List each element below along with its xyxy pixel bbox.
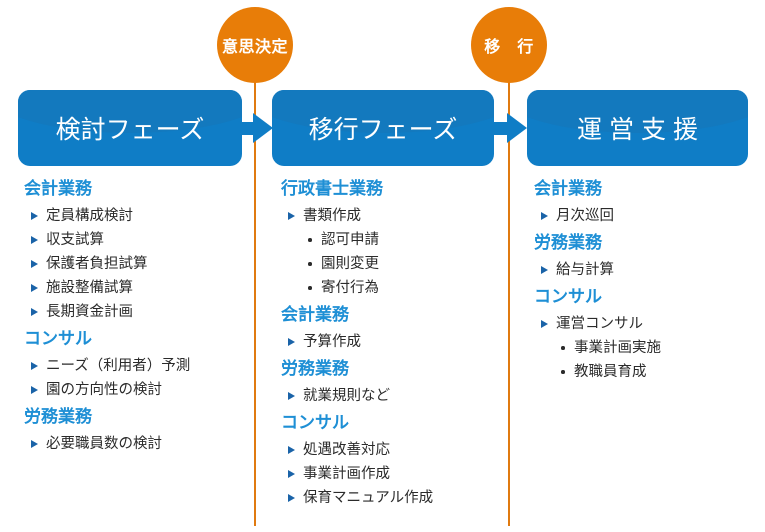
service-item: 長期資金計画 [24,300,256,324]
phase-box-3: 運営支援 [527,90,748,166]
flow-arrow-icon-2 [483,113,527,143]
dot-bullet-icon [308,262,312,266]
phase-title-2: 移行フェーズ [272,90,494,166]
service-item: 処遇改善対応 [281,438,513,462]
phase-box-2: 移行フェーズ [272,90,494,166]
triangle-bullet-icon [541,320,548,328]
service-item: 施設整備試算 [24,276,256,300]
service-item: 就業規則など [281,384,513,408]
service-item: 月次巡回 [534,204,765,228]
triangle-bullet-icon [31,440,38,448]
service-item: 給与計算 [534,258,765,282]
service-subitem-label: 認可申請 [321,232,379,248]
triangle-bullet-icon [31,308,38,316]
service-item-label: 運営コンサル [556,316,643,332]
service-item-label: 月次巡回 [556,208,614,224]
arrow-head [253,113,273,143]
triangle-bullet-icon [31,212,38,220]
milestone-label: 移 行 [484,33,534,57]
dot-bullet-icon [308,238,312,242]
service-item: 保育マニュアル作成 [281,486,513,510]
milestone-transfer: 移 行 [471,7,547,83]
service-group-title: コンサル [24,326,256,352]
service-item-label: 必要職員数の検討 [46,436,162,452]
service-item-label: 就業規則など [303,388,390,404]
triangle-bullet-icon [288,392,295,400]
service-group-title: コンサル [534,284,765,310]
service-item-list: 運営コンサル事業計画実施教職員育成 [534,312,765,384]
service-item: 事業計画作成 [281,462,513,486]
service-subitem-list: 事業計画実施教職員育成 [534,336,765,384]
service-item-list: 就業規則など [281,384,513,408]
service-group: 会計業務定員構成検討収支試算保護者負担試算施設整備試算長期資金計画 [24,176,256,324]
service-item: 必要職員数の検討 [24,432,256,456]
service-subitem-label: 事業計画実施 [574,340,661,356]
service-item-label: 予算作成 [303,334,361,350]
service-item: 収支試算 [24,228,256,252]
triangle-bullet-icon [288,212,295,220]
flow-arrow-icon-1 [229,113,273,143]
service-item-label: 長期資金計画 [46,304,133,320]
service-group-title: 労務業務 [24,404,256,430]
triangle-bullet-icon [288,470,295,478]
service-item: ニーズ（利用者）予測 [24,354,256,378]
service-group-title: 労務業務 [534,230,765,256]
phase-column-1: 会計業務定員構成検討収支試算保護者負担試算施設整備試算長期資金計画コンサルニーズ… [24,176,256,458]
process-flow-diagram: 意思決定 移 行 検討フェーズ 移行フェーズ 運営支援 会計業務定員構成検討収支… [0,0,765,532]
dot-bullet-icon [561,370,565,374]
service-group-title: 会計業務 [24,176,256,202]
service-item-list: 給与計算 [534,258,765,282]
triangle-bullet-icon [288,338,295,346]
service-item-list: 処遇改善対応事業計画作成保育マニュアル作成 [281,438,513,510]
service-group: コンサル処遇改善対応事業計画作成保育マニュアル作成 [281,410,513,510]
service-item: 保護者負担試算 [24,252,256,276]
service-group: 労務業務必要職員数の検討 [24,404,256,456]
service-item: 定員構成検討 [24,204,256,228]
service-item-label: 書類作成 [303,208,361,224]
service-group-title: 会計業務 [534,176,765,202]
triangle-bullet-icon [31,284,38,292]
triangle-bullet-icon [541,266,548,274]
service-item-label: 園の方向性の検討 [46,382,162,398]
triangle-bullet-icon [288,494,295,502]
service-group-title: コンサル [281,410,513,436]
service-item-label: 保護者負担試算 [46,256,148,272]
service-subitem: 事業計画実施 [534,336,765,360]
service-group: 会計業務予算作成 [281,302,513,354]
service-item: 書類作成 [281,204,513,228]
service-subitem-label: 園則変更 [321,256,379,272]
triangle-bullet-icon [541,212,548,220]
service-item: 運営コンサル [534,312,765,336]
service-item: 予算作成 [281,330,513,354]
service-group: コンサル運営コンサル事業計画実施教職員育成 [534,284,765,384]
service-subitem-label: 教職員育成 [574,364,647,380]
service-group-title: 会計業務 [281,302,513,328]
service-group: 行政書士業務書類作成認可申請園則変更寄付行為 [281,176,513,300]
service-item-list: 月次巡回 [534,204,765,228]
phase-column-2: 行政書士業務書類作成認可申請園則変更寄付行為会計業務予算作成労務業務就業規則など… [281,176,513,512]
service-subitem-label: 寄付行為 [321,280,379,296]
service-item-list: 定員構成検討収支試算保護者負担試算施設整備試算長期資金計画 [24,204,256,324]
service-item-label: 給与計算 [556,262,614,278]
triangle-bullet-icon [31,386,38,394]
milestone-label: 意思決定 [222,33,288,57]
service-group-title: 行政書士業務 [281,176,513,202]
service-group: 会計業務月次巡回 [534,176,765,228]
service-item-label: 収支試算 [46,232,104,248]
arrow-head [507,113,527,143]
service-group: 労務業務就業規則など [281,356,513,408]
service-item-list: 書類作成認可申請園則変更寄付行為 [281,204,513,300]
phase-column-3: 会計業務月次巡回労務業務給与計算コンサル運営コンサル事業計画実施教職員育成 [534,176,765,386]
service-item-label: 事業計画作成 [303,466,390,482]
service-group: 労務業務給与計算 [534,230,765,282]
phase-box-1: 検討フェーズ [18,90,242,166]
service-item-label: 施設整備試算 [46,280,133,296]
service-subitem: 寄付行為 [281,276,513,300]
service-group: コンサルニーズ（利用者）予測園の方向性の検討 [24,326,256,402]
service-item-list: 予算作成 [281,330,513,354]
service-item-list: 必要職員数の検討 [24,432,256,456]
triangle-bullet-icon [288,446,295,454]
phase-title-3: 運営支援 [527,90,748,166]
service-item-label: 処遇改善対応 [303,442,390,458]
triangle-bullet-icon [31,362,38,370]
service-item-label: ニーズ（利用者）予測 [46,358,190,374]
dot-bullet-icon [561,346,565,350]
service-subitem: 認可申請 [281,228,513,252]
service-item-list: ニーズ（利用者）予測園の方向性の検討 [24,354,256,402]
service-subitem-list: 認可申請園則変更寄付行為 [281,228,513,300]
service-subitem: 園則変更 [281,252,513,276]
triangle-bullet-icon [31,236,38,244]
service-item-label: 定員構成検討 [46,208,133,224]
phase-title-1: 検討フェーズ [18,90,242,166]
triangle-bullet-icon [31,260,38,268]
milestone-decision: 意思決定 [217,7,293,83]
dot-bullet-icon [308,286,312,290]
service-item-label: 保育マニュアル作成 [303,490,433,506]
service-item: 園の方向性の検討 [24,378,256,402]
service-group-title: 労務業務 [281,356,513,382]
service-subitem: 教職員育成 [534,360,765,384]
